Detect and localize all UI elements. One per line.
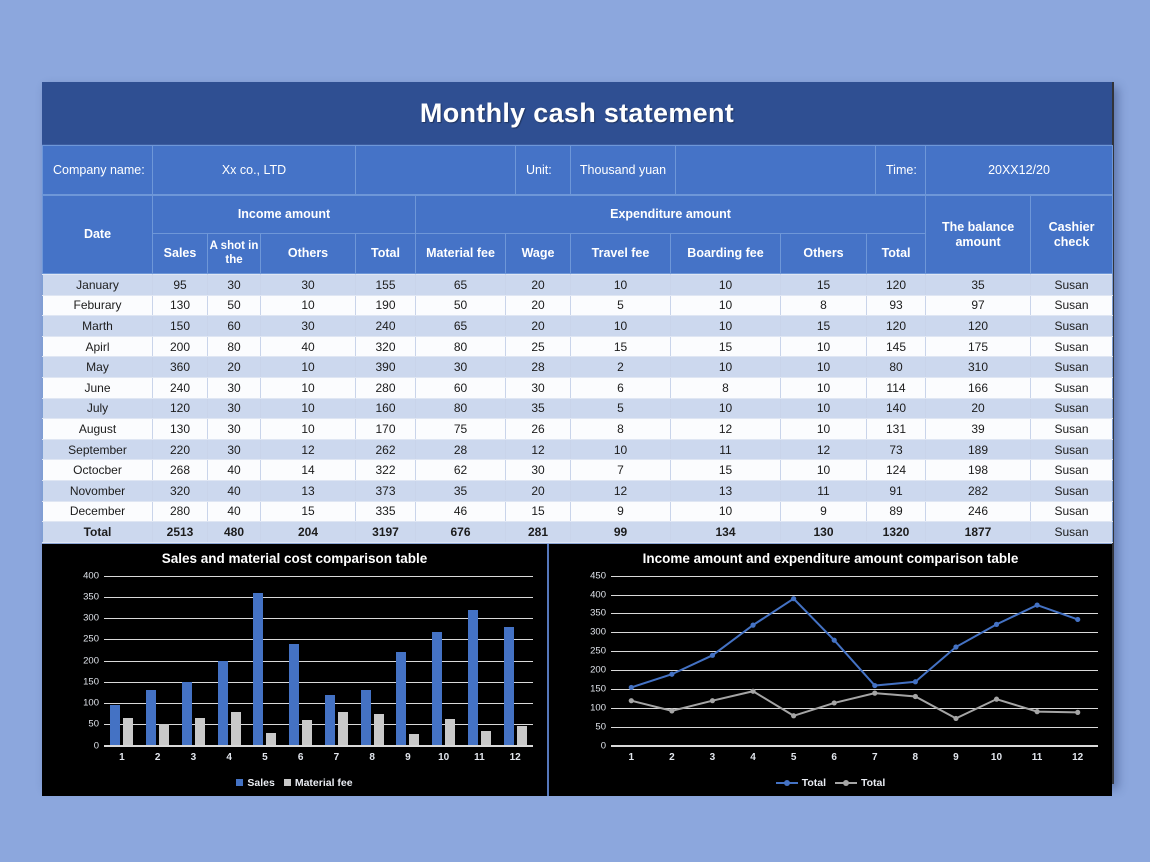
cell-cashier[interactable]: Susan (1031, 357, 1113, 378)
cell-cashier[interactable]: Susan (1031, 295, 1113, 316)
col-header-material-fee[interactable]: Material fee (416, 234, 506, 274)
cell-balance[interactable]: 198 (926, 460, 1031, 481)
line-data-point[interactable] (872, 690, 877, 695)
cell-material[interactable]: 35 (416, 480, 506, 501)
cell-exp_total[interactable]: 124 (867, 460, 926, 481)
cell-cashier[interactable]: Susan (1031, 522, 1113, 543)
cell-exp_total[interactable]: 145 (867, 336, 926, 357)
x-axis-tick-label: 10 (426, 752, 462, 763)
cell-balance[interactable]: 282 (926, 480, 1031, 501)
x-axis-line (104, 745, 533, 746)
cell-cashier[interactable]: Susan (1031, 480, 1113, 501)
cell-shot[interactable]: 60 (208, 316, 261, 337)
cell-boarding[interactable]: 134 (671, 522, 781, 543)
cell-exp_others[interactable]: 10 (781, 357, 867, 378)
bar-group[interactable] (104, 576, 140, 746)
line-series-expenditure-total[interactable] (631, 691, 1077, 718)
cell-inc_others[interactable]: 30 (261, 275, 356, 296)
company-name-value[interactable]: Xx co., LTD (153, 146, 356, 195)
cell-shot[interactable]: 30 (208, 377, 261, 398)
cell-boarding[interactable]: 15 (671, 336, 781, 357)
table-row[interactable]: Marth15060302406520101015120120Susan (43, 316, 1113, 337)
cell-material[interactable]: 65 (416, 275, 506, 296)
bar-material-fee[interactable] (481, 731, 491, 746)
cell-boarding[interactable]: 13 (671, 480, 781, 501)
bar-group[interactable] (211, 576, 247, 746)
cell-material[interactable]: 30 (416, 357, 506, 378)
cell-wage[interactable]: 35 (506, 398, 571, 419)
table-row[interactable]: January953030155652010101512035Susan (43, 275, 1113, 296)
cell-travel[interactable]: 5 (571, 295, 671, 316)
bar-sales[interactable] (361, 690, 371, 745)
x-axis-tick-label: 3 (176, 752, 212, 763)
table-row-total[interactable]: Total25134802043197676281991341301320187… (43, 522, 1113, 543)
x-axis-tick-label: 9 (936, 752, 977, 763)
legend-label: Material fee (295, 777, 353, 789)
cell-sales[interactable]: 268 (153, 460, 208, 481)
line-series-income-total[interactable] (631, 598, 1077, 687)
bar-group[interactable] (462, 576, 498, 746)
cell-shot[interactable]: 40 (208, 460, 261, 481)
bar-sales[interactable] (289, 644, 299, 746)
y-axis-tick-label: 150 (590, 684, 606, 695)
cell-balance[interactable]: 189 (926, 439, 1031, 460)
col-header-income-total[interactable]: Total (356, 234, 416, 274)
line-data-point[interactable] (953, 644, 958, 649)
bar-material-fee[interactable] (517, 726, 527, 746)
bar-sales[interactable] (253, 593, 263, 746)
cell-material[interactable]: 75 (416, 419, 506, 440)
line-data-point[interactable] (1075, 709, 1080, 714)
line-data-point[interactable] (994, 696, 999, 701)
cell-inc_others[interactable]: 10 (261, 357, 356, 378)
line-data-point[interactable] (832, 700, 837, 705)
cell-boarding[interactable]: 10 (671, 275, 781, 296)
cell-travel[interactable]: 5 (571, 398, 671, 419)
cell-travel[interactable]: 12 (571, 480, 671, 501)
cell-exp_others[interactable]: 10 (781, 377, 867, 398)
cell-inc_others[interactable]: 12 (261, 439, 356, 460)
cell-sales[interactable]: 130 (153, 295, 208, 316)
cell-inc_total[interactable]: 322 (356, 460, 416, 481)
cell-exp_others[interactable]: 10 (781, 336, 867, 357)
cell-material[interactable]: 46 (416, 501, 506, 522)
cell-wage[interactable]: 20 (506, 275, 571, 296)
cell-cashier[interactable]: Susan (1031, 460, 1113, 481)
unit-label: Unit: (516, 146, 571, 195)
table-row[interactable]: September2203012262281210111273189Susan (43, 439, 1113, 460)
col-header-a-shot-in-the[interactable]: A shot in the (208, 234, 261, 274)
cell-exp_total[interactable]: 91 (867, 480, 926, 501)
cell-exp_others[interactable]: 130 (781, 522, 867, 543)
line-data-point[interactable] (629, 698, 634, 703)
line-data-point[interactable] (953, 716, 958, 721)
line-data-point[interactable] (750, 688, 755, 693)
cell-balance[interactable]: 39 (926, 419, 1031, 440)
line-data-point[interactable] (710, 698, 715, 703)
line-chart-plot: 050100150200250300350400450 (611, 576, 1098, 746)
cell-balance[interactable]: 175 (926, 336, 1031, 357)
line-data-point[interactable] (913, 679, 918, 684)
cell-date[interactable]: Octocber (43, 460, 153, 481)
bar-material-fee[interactable] (445, 719, 455, 745)
cell-wage[interactable]: 20 (506, 480, 571, 501)
charts-area: Sales and material cost comparison table… (42, 543, 1112, 796)
cell-travel[interactable]: 2 (571, 357, 671, 378)
bar-sales[interactable] (396, 652, 406, 746)
cell-sales[interactable]: 220 (153, 439, 208, 460)
cell-inc_total[interactable]: 155 (356, 275, 416, 296)
table-row[interactable]: Feburary1305010190502051089397Susan (43, 295, 1113, 316)
line-data-point[interactable] (1035, 709, 1040, 714)
col-header-income-others[interactable]: Others (261, 234, 356, 274)
cell-inc_total[interactable]: 390 (356, 357, 416, 378)
unit-value[interactable]: Thousand yuan (571, 146, 676, 195)
bar-material-fee[interactable] (123, 718, 133, 746)
cell-inc_total[interactable]: 190 (356, 295, 416, 316)
cell-material[interactable]: 80 (416, 398, 506, 419)
legend-label: Sales (247, 777, 274, 789)
x-axis-tick-label: 6 (283, 752, 319, 763)
line-series-container (611, 576, 1098, 746)
bar-group[interactable] (176, 576, 212, 746)
cell-shot[interactable]: 80 (208, 336, 261, 357)
bar-group[interactable] (283, 576, 319, 746)
cell-inc_total[interactable]: 280 (356, 377, 416, 398)
line-data-point[interactable] (750, 622, 755, 627)
cell-shot[interactable]: 30 (208, 275, 261, 296)
cell-travel[interactable]: 6 (571, 377, 671, 398)
cell-inc_total[interactable]: 3197 (356, 522, 416, 543)
legend-item[interactable]: Total (835, 777, 885, 789)
cell-exp_total[interactable]: 80 (867, 357, 926, 378)
cell-cashier[interactable]: Susan (1031, 316, 1113, 337)
cell-date[interactable]: May (43, 357, 153, 378)
cell-inc_others[interactable]: 13 (261, 480, 356, 501)
col-header-date[interactable]: Date (43, 196, 153, 274)
cell-exp_others[interactable]: 15 (781, 316, 867, 337)
cell-wage[interactable]: 281 (506, 522, 571, 543)
cell-sales[interactable]: 130 (153, 419, 208, 440)
line-chart-legend[interactable]: TotalTotal (549, 777, 1112, 789)
cell-balance[interactable]: 310 (926, 357, 1031, 378)
cell-sales[interactable]: 150 (153, 316, 208, 337)
x-axis-tick-label: 3 (692, 752, 733, 763)
bar-material-fee[interactable] (195, 718, 205, 746)
bar-chart-legend[interactable]: SalesMaterial fee (42, 777, 547, 789)
cell-date[interactable]: June (43, 377, 153, 398)
line-data-point[interactable] (872, 683, 877, 688)
cell-boarding[interactable]: 10 (671, 501, 781, 522)
bar-chart-x-axis-labels: 123456789101112 (104, 752, 533, 763)
line-data-point[interactable] (669, 671, 674, 676)
cell-exp_others[interactable]: 11 (781, 480, 867, 501)
cell-balance[interactable]: 97 (926, 295, 1031, 316)
cell-inc_total[interactable]: 373 (356, 480, 416, 501)
cell-material[interactable]: 60 (416, 377, 506, 398)
table-row[interactable]: Novomber3204013373352012131191282Susan (43, 480, 1113, 501)
legend-swatch-icon (284, 779, 291, 786)
col-header-boarding-fee[interactable]: Boarding fee (671, 234, 781, 274)
y-axis-tick-label: 250 (590, 646, 606, 657)
x-axis-tick-label: 1 (104, 752, 140, 763)
table-row[interactable]: May360201039030282101080310Susan (43, 357, 1113, 378)
cell-boarding[interactable]: 10 (671, 295, 781, 316)
cell-travel[interactable]: 10 (571, 316, 671, 337)
col-group-expenditure[interactable]: Expenditure amount (416, 196, 926, 234)
col-header-expenditure-total[interactable]: Total (867, 234, 926, 274)
cell-shot[interactable]: 40 (208, 480, 261, 501)
cell-exp_total[interactable]: 89 (867, 501, 926, 522)
cell-cashier[interactable]: Susan (1031, 439, 1113, 460)
col-header-travel-fee[interactable]: Travel fee (571, 234, 671, 274)
cell-date[interactable]: Total (43, 522, 153, 543)
cell-material[interactable]: 62 (416, 460, 506, 481)
bar-group[interactable] (354, 576, 390, 746)
cell-wage[interactable]: 25 (506, 336, 571, 357)
cell-travel[interactable]: 8 (571, 419, 671, 440)
cell-cashier[interactable]: Susan (1031, 336, 1113, 357)
cell-date[interactable]: September (43, 439, 153, 460)
cell-material[interactable]: 28 (416, 439, 506, 460)
cell-inc_others[interactable]: 10 (261, 295, 356, 316)
bar-sales[interactable] (325, 695, 335, 746)
cell-material[interactable]: 65 (416, 316, 506, 337)
cell-boarding[interactable]: 15 (671, 460, 781, 481)
bar-group[interactable] (497, 576, 533, 746)
cell-wage[interactable]: 12 (506, 439, 571, 460)
cell-date[interactable]: January (43, 275, 153, 296)
cell-sales[interactable]: 120 (153, 398, 208, 419)
cell-exp_total[interactable]: 120 (867, 275, 926, 296)
col-header-cashier[interactable]: Cashier check (1031, 196, 1113, 274)
col-group-income[interactable]: Income amount (153, 196, 416, 234)
cell-travel[interactable]: 7 (571, 460, 671, 481)
cell-inc_others[interactable]: 10 (261, 398, 356, 419)
cell-shot[interactable]: 20 (208, 357, 261, 378)
cell-wage[interactable]: 30 (506, 460, 571, 481)
info-blank-cell-1[interactable] (356, 146, 516, 195)
cell-shot[interactable]: 30 (208, 439, 261, 460)
cell-material[interactable]: 50 (416, 295, 506, 316)
cell-sales[interactable]: 280 (153, 501, 208, 522)
col-header-expenditure-others[interactable]: Others (781, 234, 867, 274)
cell-boarding[interactable]: 12 (671, 419, 781, 440)
cell-inc_others[interactable]: 10 (261, 377, 356, 398)
cell-exp_total[interactable]: 114 (867, 377, 926, 398)
cell-travel[interactable]: 99 (571, 522, 671, 543)
cell-boarding[interactable]: 10 (671, 316, 781, 337)
info-blank-cell-2[interactable] (676, 146, 876, 195)
cell-sales[interactable]: 240 (153, 377, 208, 398)
bar-material-fee[interactable] (338, 712, 348, 746)
cell-cashier[interactable]: Susan (1031, 501, 1113, 522)
table-row[interactable]: Apirl20080403208025151510145175Susan (43, 336, 1113, 357)
x-axis-tick-label: 6 (814, 752, 855, 763)
cell-date[interactable]: August (43, 419, 153, 440)
cell-exp_total[interactable]: 1320 (867, 522, 926, 543)
cell-exp_others[interactable]: 12 (781, 439, 867, 460)
table-row[interactable]: December28040153354615910989246Susan (43, 501, 1113, 522)
table-row[interactable]: August130301017075268121013139Susan (43, 419, 1113, 440)
table-row[interactable]: Octocber2684014322623071510124198Susan (43, 460, 1113, 481)
cell-inc_others[interactable]: 10 (261, 419, 356, 440)
bar-material-fee[interactable] (231, 712, 241, 746)
cell-inc_total[interactable]: 335 (356, 501, 416, 522)
cell-exp_others[interactable]: 9 (781, 501, 867, 522)
bar-sales[interactable] (468, 610, 478, 746)
cell-exp_total[interactable]: 73 (867, 439, 926, 460)
line-data-point[interactable] (994, 621, 999, 626)
cell-inc_others[interactable]: 40 (261, 336, 356, 357)
cell-inc_others[interactable]: 15 (261, 501, 356, 522)
cell-inc_total[interactable]: 170 (356, 419, 416, 440)
cell-boarding[interactable]: 10 (671, 357, 781, 378)
line-data-point[interactable] (1035, 602, 1040, 607)
cell-inc_others[interactable]: 14 (261, 460, 356, 481)
cell-wage[interactable]: 30 (506, 377, 571, 398)
cell-exp_others[interactable]: 10 (781, 460, 867, 481)
cell-sales[interactable]: 95 (153, 275, 208, 296)
cell-exp_total[interactable]: 140 (867, 398, 926, 419)
cell-cashier[interactable]: Susan (1031, 377, 1113, 398)
line-data-point[interactable] (913, 694, 918, 699)
line-data-point[interactable] (791, 713, 796, 718)
cell-sales[interactable]: 200 (153, 336, 208, 357)
legend-item[interactable]: Total (776, 777, 826, 789)
cell-wage[interactable]: 20 (506, 295, 571, 316)
col-header-wage[interactable]: Wage (506, 234, 571, 274)
cell-sales[interactable]: 2513 (153, 522, 208, 543)
cell-balance[interactable]: 246 (926, 501, 1031, 522)
cell-exp_total[interactable]: 120 (867, 316, 926, 337)
table-row[interactable]: July120301016080355101014020Susan (43, 398, 1113, 419)
cell-balance[interactable]: 120 (926, 316, 1031, 337)
cell-boarding[interactable]: 8 (671, 377, 781, 398)
bar-sales[interactable] (504, 627, 514, 746)
cell-cashier[interactable]: Susan (1031, 275, 1113, 296)
cell-sales[interactable]: 360 (153, 357, 208, 378)
col-header-balance[interactable]: The balance amount (926, 196, 1031, 274)
cell-exp_others[interactable]: 15 (781, 275, 867, 296)
cell-wage[interactable]: 28 (506, 357, 571, 378)
time-value[interactable]: 20XX12/20 (926, 146, 1113, 195)
x-axis-tick-label: 8 (354, 752, 390, 763)
cell-boarding[interactable]: 10 (671, 398, 781, 419)
cell-travel[interactable]: 15 (571, 336, 671, 357)
x-axis-tick-label: 12 (1057, 752, 1098, 763)
bar-group[interactable] (426, 576, 462, 746)
cell-travel[interactable]: 10 (571, 275, 671, 296)
cell-material[interactable]: 676 (416, 522, 506, 543)
cell-shot[interactable]: 30 (208, 398, 261, 419)
bar-chart-plot: 050100150200250300350400 (104, 576, 533, 746)
cell-balance[interactable]: 20 (926, 398, 1031, 419)
cell-exp_others[interactable]: 10 (781, 419, 867, 440)
cell-cashier[interactable]: Susan (1031, 398, 1113, 419)
cell-inc_total[interactable]: 262 (356, 439, 416, 460)
cell-travel[interactable]: 9 (571, 501, 671, 522)
cell-travel[interactable]: 10 (571, 439, 671, 460)
bar-material-fee[interactable] (159, 724, 169, 745)
line-data-point[interactable] (629, 685, 634, 690)
cell-inc_others[interactable]: 204 (261, 522, 356, 543)
statement-table-body: January953030155652010101512035SusanFebu… (42, 274, 1113, 543)
line-data-point[interactable] (1075, 617, 1080, 622)
bar-sales[interactable] (146, 690, 156, 745)
x-axis-tick-label: 10 (976, 752, 1017, 763)
bar-group[interactable] (319, 576, 355, 746)
cell-shot[interactable]: 30 (208, 419, 261, 440)
table-row[interactable]: June240301028060306810114166Susan (43, 377, 1113, 398)
cell-shot[interactable]: 480 (208, 522, 261, 543)
bar-material-fee[interactable] (374, 714, 384, 746)
cell-date[interactable]: Marth (43, 316, 153, 337)
cell-shot[interactable]: 40 (208, 501, 261, 522)
cell-inc_total[interactable]: 240 (356, 316, 416, 337)
y-axis-tick-label: 50 (595, 721, 606, 732)
cell-shot[interactable]: 50 (208, 295, 261, 316)
page-title: Monthly cash statement (420, 98, 734, 129)
legend-item[interactable]: Sales (236, 777, 274, 789)
bar-group[interactable] (247, 576, 283, 746)
line-chart[interactable]: Income amount and expenditure amount com… (549, 544, 1112, 796)
cell-date[interactable]: Novomber (43, 480, 153, 501)
cell-balance[interactable]: 1877 (926, 522, 1031, 543)
line-data-point[interactable] (669, 708, 674, 713)
cell-inc_total[interactable]: 320 (356, 336, 416, 357)
y-axis-tick-label: 350 (590, 608, 606, 619)
cell-date[interactable]: July (43, 398, 153, 419)
cell-cashier[interactable]: Susan (1031, 419, 1113, 440)
bar-sales[interactable] (432, 632, 442, 746)
cell-exp_total[interactable]: 131 (867, 419, 926, 440)
cell-exp_others[interactable]: 8 (781, 295, 867, 316)
line-data-point[interactable] (710, 652, 715, 657)
bar-chart[interactable]: Sales and material cost comparison table… (42, 544, 549, 796)
bar-material-fee[interactable] (302, 720, 312, 746)
bar-sales[interactable] (110, 705, 120, 745)
cell-date[interactable]: December (43, 501, 153, 522)
cell-wage[interactable]: 15 (506, 501, 571, 522)
cell-balance[interactable]: 166 (926, 377, 1031, 398)
bar-sales[interactable] (218, 661, 228, 746)
cell-balance[interactable]: 35 (926, 275, 1031, 296)
cell-exp_total[interactable]: 93 (867, 295, 926, 316)
bar-sales[interactable] (182, 682, 192, 746)
line-data-point[interactable] (832, 637, 837, 642)
bar-group[interactable] (140, 576, 176, 746)
cell-inc_others[interactable]: 30 (261, 316, 356, 337)
legend-item[interactable]: Material fee (284, 777, 353, 789)
y-axis-tick-label: 400 (590, 589, 606, 600)
gridline (104, 746, 533, 747)
cell-wage[interactable]: 26 (506, 419, 571, 440)
bar-group[interactable] (390, 576, 426, 746)
col-header-sales[interactable]: Sales (153, 234, 208, 274)
cell-sales[interactable]: 320 (153, 480, 208, 501)
cell-boarding[interactable]: 11 (671, 439, 781, 460)
cell-date[interactable]: Feburary (43, 295, 153, 316)
y-axis-tick-label: 300 (590, 627, 606, 638)
cell-wage[interactable]: 20 (506, 316, 571, 337)
spreadsheet-sheet: Monthly cash statement Company name: Xx … (42, 82, 1114, 784)
cell-inc_total[interactable]: 160 (356, 398, 416, 419)
cell-exp_others[interactable]: 10 (781, 398, 867, 419)
line-data-point[interactable] (791, 596, 796, 601)
cell-material[interactable]: 80 (416, 336, 506, 357)
cell-date[interactable]: Apirl (43, 336, 153, 357)
